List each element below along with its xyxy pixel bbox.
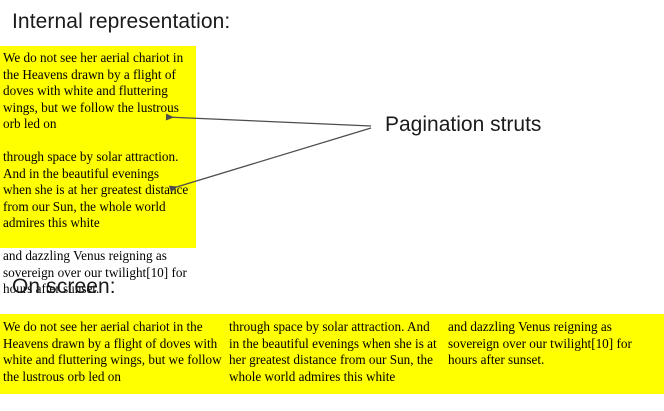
strut-arrow-lower [170,128,371,189]
section-heading-internal: Internal representation: [12,10,230,34]
internal-paragraph-2: through space by solar attraction. And i… [3,149,190,232]
section-heading-onscreen: On screen: [12,275,116,299]
onscreen-column-2: through space by solar attraction. And i… [229,314,443,385]
pagination-strut-gap-2 [3,232,190,248]
slide-canvas: Internal representation: We do not see h… [0,0,664,411]
internal-paragraph-1: We do not see her aerial chariot in the … [3,50,190,133]
strut-arrow-upper [166,117,371,126]
onscreen-column-3: and dazzling Venus reigning as sovereign… [448,314,660,369]
pagination-strut-gap-1 [3,133,190,149]
onscreen-text-band: We do not see her aerial chariot in the … [0,314,664,394]
pagination-struts-label: Pagination struts [385,113,541,137]
internal-representation-text-block: We do not see her aerial chariot in the … [0,46,196,248]
onscreen-column-1: We do not see her aerial chariot in the … [3,314,223,385]
